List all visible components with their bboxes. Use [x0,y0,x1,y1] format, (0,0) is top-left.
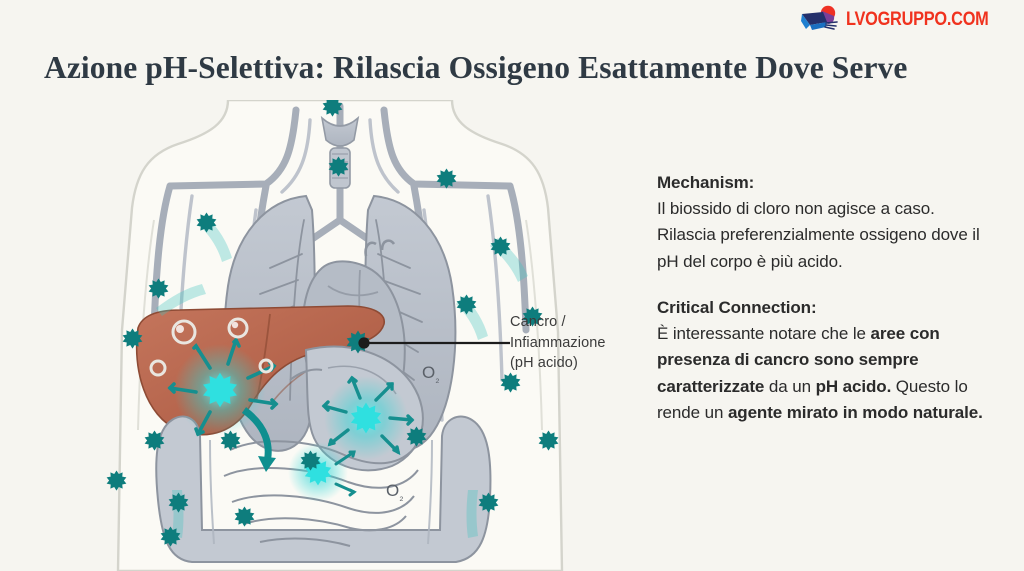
callout-cancer-inflammation: Cancro / Infiammazione (pH acido) [510,312,650,374]
brand-name: LVOGRUPPO.COM [846,10,989,29]
lvo-bird-mark-icon [800,5,844,33]
copy-block-mechanism: Mechanism: Il biossido di cloro non agis… [657,170,987,275]
copy-block-critical-connection: Critical Connection: È interessante nota… [657,295,987,427]
callout-line-1: Cancro / [510,312,650,333]
callout-line-2: Infiammazione [510,333,650,354]
callout-line-3: (pH acido) [510,353,650,374]
copy-body-mechanism: Il biossido di cloro non agisce a caso. … [657,196,987,276]
page-title: Azione pH-Selettiva: Rilascia Ossigeno E… [44,50,994,86]
copy-heading-mechanism: Mechanism: [657,170,987,196]
explanation-panel: Mechanism: Il biossido di cloro non agis… [657,170,987,427]
copy-heading-critical-connection: Critical Connection: [657,295,987,321]
brand-logo[interactable]: LVOGRUPPO.COM [800,4,1012,34]
copy-body-critical-connection: È interessante notare che le aree con pr… [657,321,987,427]
